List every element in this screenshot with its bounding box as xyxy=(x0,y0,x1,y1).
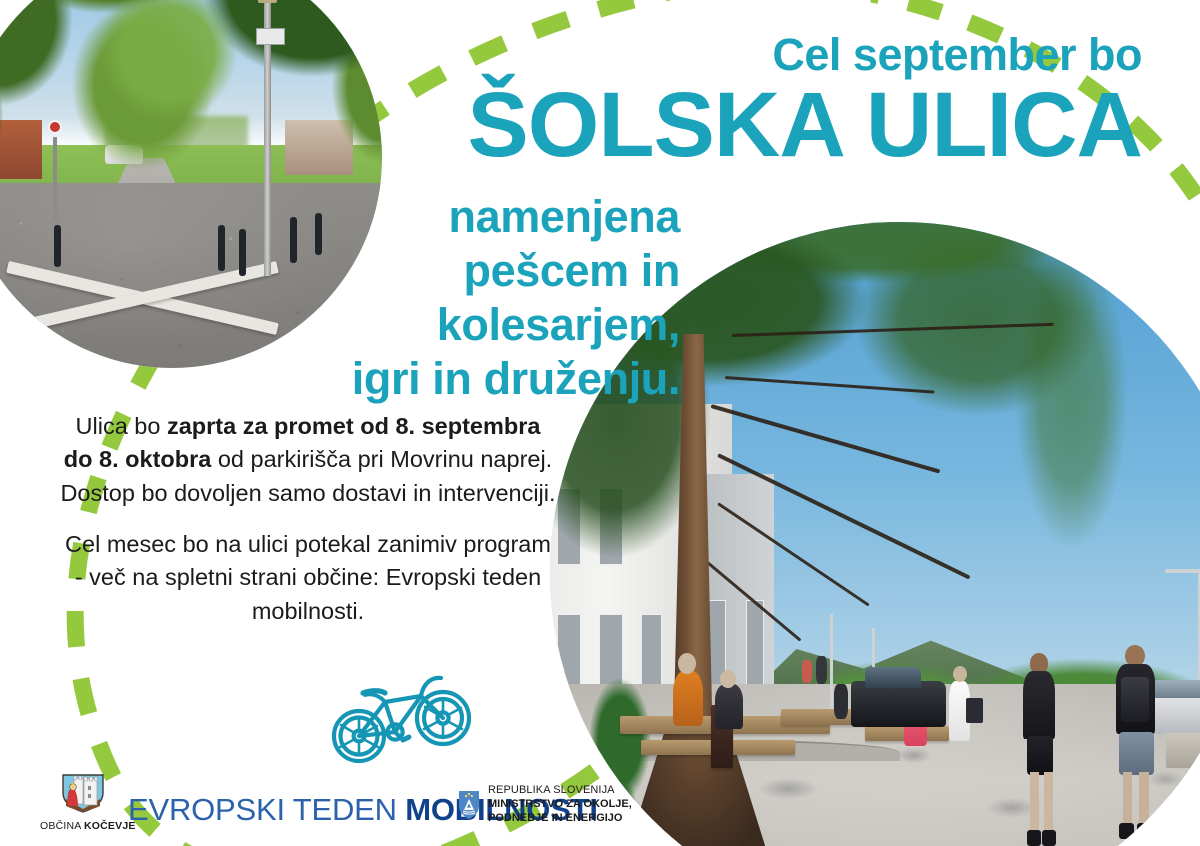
logo-ministry: REPUBLIKA SLOVENIJA MINISTRSTVO ZA OKOLJ… xyxy=(458,784,632,826)
kocevje-caption-light: OBČINA xyxy=(40,820,84,832)
subtitle-line-4: igri in druženju. xyxy=(120,352,680,406)
page-title: ŠOLSKA ULICA xyxy=(402,79,1142,173)
headline-kicker: Cel september bo xyxy=(402,32,1142,77)
poster-canvas: Cel september bo ŠOLSKA ULICA namenjena … xyxy=(0,0,1200,846)
kocevje-coat-of-arms-icon xyxy=(60,773,106,813)
ministry-text: REPUBLIKA SLOVENIJA MINISTRSTVO ZA OKOLJ… xyxy=(488,784,632,826)
ministry-line-1: REPUBLIKA SLOVENIJA xyxy=(488,784,632,798)
ministry-line-3: PODNEBJE IN ENERGIJO xyxy=(488,812,632,826)
kocevje-caption: OBČINA KOČEVJE xyxy=(40,820,126,832)
body-paragraph-2: Cel mesec bo na ulici potekal zanimiv pr… xyxy=(58,528,558,628)
ministry-line-2: MINISTRSTVO ZA OKOLJE, xyxy=(488,798,632,812)
subtitle-line-1: namenjena xyxy=(120,190,680,244)
subtitle-line-3: kolesarjem, xyxy=(120,298,680,352)
logo-kocevje: OBČINA KOČEVJE xyxy=(40,773,126,832)
body-paragraph-1: Ulica bo zaprta za promet od 8. septembr… xyxy=(58,410,558,510)
bicycle-icon xyxy=(325,668,477,766)
subtitle-line-2: pešcem in xyxy=(120,244,680,298)
slovenia-coat-of-arms-icon xyxy=(458,790,480,820)
body-text: Ulica bo zaprta za promet od 8. septembr… xyxy=(58,410,558,628)
etm-light-text: EVROPSKI TEDEN xyxy=(128,792,405,827)
headline-block: Cel september bo ŠOLSKA ULICA xyxy=(402,32,1142,173)
headline-subtitle: namenjena pešcem in kolesarjem, igri in … xyxy=(120,190,680,406)
footer-logos: OBČINA KOČEVJE EVROPSKI TEDEN MOBILNOSTI… xyxy=(0,762,660,840)
